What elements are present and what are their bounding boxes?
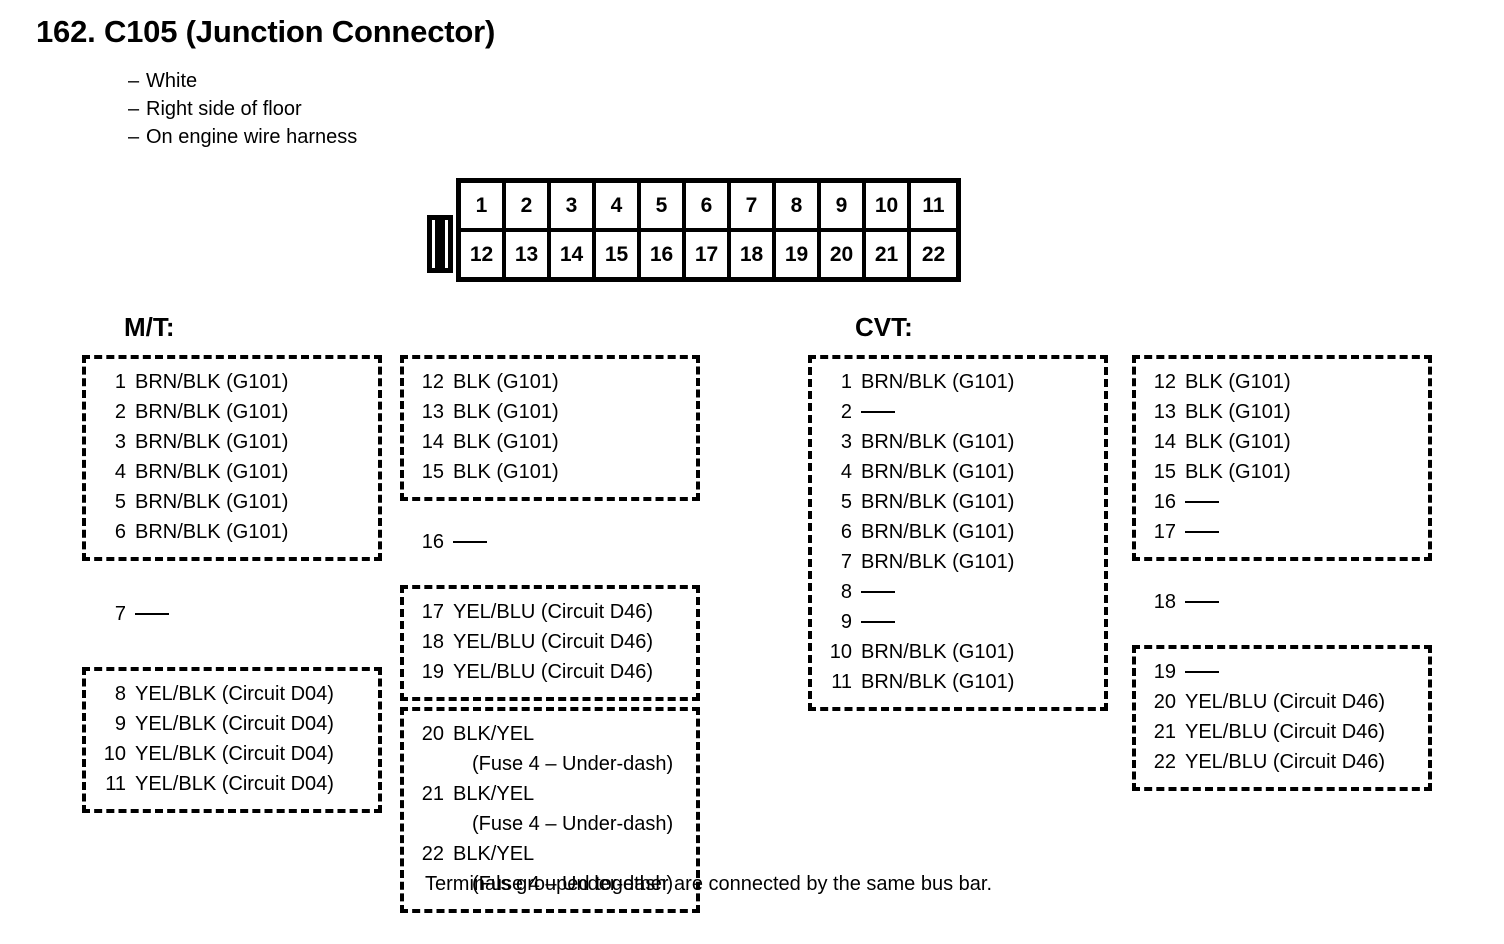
pin-row: 10BRN/BLK (G101) bbox=[822, 637, 1094, 667]
pin-description: BRN/BLK (G101) bbox=[861, 547, 1014, 577]
pin-row: 11YEL/BLK (Circuit D04) bbox=[96, 769, 368, 799]
pin-number: 7 bbox=[96, 599, 126, 629]
connector-terminal-8: 8 bbox=[776, 183, 821, 228]
pin-number: 5 bbox=[822, 487, 852, 517]
pin-row: 5BRN/BLK (G101) bbox=[96, 487, 368, 517]
pin-number: 12 bbox=[414, 367, 444, 397]
pin-number: 14 bbox=[1146, 427, 1176, 457]
pin-description: YEL/BLU (Circuit D46) bbox=[1185, 717, 1385, 747]
pin-number: 14 bbox=[414, 427, 444, 457]
pin-row: 2BRN/BLK (G101) bbox=[96, 397, 368, 427]
pin-row: 18YEL/BLU (Circuit D46) bbox=[414, 627, 686, 657]
pin-row: 17 bbox=[1146, 517, 1418, 547]
pin-empty-dash-icon bbox=[1185, 587, 1219, 617]
pin-row: 22BLK/YEL bbox=[414, 839, 686, 869]
connector-terminal-4: 4 bbox=[596, 183, 641, 228]
pin-description: BRN/BLK (G101) bbox=[861, 517, 1014, 547]
pin-row: 21YEL/BLU (Circuit D46) bbox=[1146, 717, 1418, 747]
section-heading-mt: M/T: bbox=[124, 312, 175, 343]
pin-number: 20 bbox=[414, 719, 444, 749]
pin-row: 14BLK (G101) bbox=[1146, 427, 1418, 457]
connector-row-top: 1234567891011 bbox=[461, 183, 956, 232]
pin-row: 2 bbox=[822, 397, 1094, 427]
em-dash-icon bbox=[1185, 601, 1219, 603]
pin-number: 3 bbox=[96, 427, 126, 457]
pin-sub-description: (Fuse 4 – Under-dash) bbox=[414, 809, 686, 839]
pin-number: 5 bbox=[96, 487, 126, 517]
pin-number: 9 bbox=[96, 709, 126, 739]
pin-number: 16 bbox=[1146, 487, 1176, 517]
pin-row: 7BRN/BLK (G101) bbox=[822, 547, 1094, 577]
pin-description: BRN/BLK (G101) bbox=[135, 367, 288, 397]
pin-description: BRN/BLK (G101) bbox=[135, 427, 288, 457]
connector-attribute-color: – White bbox=[128, 67, 357, 95]
pin-row: 10YEL/BLK (Circuit D04) bbox=[96, 739, 368, 769]
pin-row: 19YEL/BLU (Circuit D46) bbox=[414, 657, 686, 687]
pin-description: BLK (G101) bbox=[1185, 457, 1291, 487]
pin-row: 16 bbox=[1146, 487, 1418, 517]
pin-empty-dash-icon bbox=[135, 599, 169, 629]
connector-terminal-15: 15 bbox=[596, 232, 641, 277]
pin-number: 2 bbox=[96, 397, 126, 427]
pin-row: 8YEL/BLK (Circuit D04) bbox=[96, 679, 368, 709]
pin-column-mt-left: 1BRN/BLK (G101)2BRN/BLK (G101)3BRN/BLK (… bbox=[82, 355, 382, 813]
pin-column-cvt-left: 1BRN/BLK (G101)23BRN/BLK (G101)4BRN/BLK … bbox=[808, 355, 1108, 711]
em-dash-icon bbox=[1185, 531, 1219, 533]
em-dash-icon bbox=[861, 621, 895, 623]
pin-row: 7 bbox=[96, 599, 372, 629]
pin-row: 9 bbox=[822, 607, 1094, 637]
pin-description: BLK (G101) bbox=[453, 457, 559, 487]
pin-number: 6 bbox=[822, 517, 852, 547]
pin-description: BLK (G101) bbox=[453, 427, 559, 457]
pin-description: YEL/BLK (Circuit D04) bbox=[135, 769, 334, 799]
pin-row: 11BRN/BLK (G101) bbox=[822, 667, 1094, 697]
bus-bar-group: 8YEL/BLK (Circuit D04)9YEL/BLK (Circuit … bbox=[82, 667, 382, 813]
pin-standalone: 7 bbox=[82, 591, 382, 639]
pin-empty-dash-icon bbox=[861, 397, 895, 427]
pin-row: 18 bbox=[1146, 587, 1422, 617]
pin-description: BLK/YEL bbox=[453, 839, 534, 869]
pin-row: 19 bbox=[1146, 657, 1418, 687]
pin-empty-dash-icon bbox=[1185, 517, 1219, 547]
pin-description: YEL/BLU (Circuit D46) bbox=[453, 657, 653, 687]
connector-terminal-1: 1 bbox=[461, 183, 506, 228]
pin-description: BRN/BLK (G101) bbox=[135, 517, 288, 547]
pin-row: 3BRN/BLK (G101) bbox=[96, 427, 368, 457]
connector-terminal-18: 18 bbox=[731, 232, 776, 277]
pin-description: BLK (G101) bbox=[453, 367, 559, 397]
pin-description: YEL/BLK (Circuit D04) bbox=[135, 679, 334, 709]
pin-number: 21 bbox=[414, 779, 444, 809]
pin-column-mt-right: 12BLK (G101)13BLK (G101)14BLK (G101)15BL… bbox=[400, 355, 700, 913]
connector-terminal-10: 10 bbox=[866, 183, 911, 228]
pin-row: 15BLK (G101) bbox=[1146, 457, 1418, 487]
bus-bar-group: 12BLK (G101)13BLK (G101)14BLK (G101)15BL… bbox=[1132, 355, 1432, 561]
pin-sub-description: (Fuse 4 – Under-dash) bbox=[414, 749, 686, 779]
connector-terminal-17: 17 bbox=[686, 232, 731, 277]
pin-row: 21BLK/YEL bbox=[414, 779, 686, 809]
pin-row: 6BRN/BLK (G101) bbox=[822, 517, 1094, 547]
pin-description: YEL/BLK (Circuit D04) bbox=[135, 739, 334, 769]
pin-row: 13BLK (G101) bbox=[414, 397, 686, 427]
pin-row: 5BRN/BLK (G101) bbox=[822, 487, 1094, 517]
pin-number: 18 bbox=[1146, 587, 1176, 617]
pin-number: 17 bbox=[414, 597, 444, 627]
connector-latch-right bbox=[427, 215, 440, 273]
pin-row: 6BRN/BLK (G101) bbox=[96, 517, 368, 547]
pin-description: BRN/BLK (G101) bbox=[135, 397, 288, 427]
pin-number: 19 bbox=[1146, 657, 1176, 687]
section-heading-cvt: CVT: bbox=[855, 312, 913, 343]
pin-description: BRN/BLK (G101) bbox=[861, 457, 1014, 487]
pin-row: 15BLK (G101) bbox=[414, 457, 686, 487]
connector-terminal-19: 19 bbox=[776, 232, 821, 277]
bus-bar-group: 17YEL/BLU (Circuit D46)18YEL/BLU (Circui… bbox=[400, 585, 700, 701]
pin-number: 15 bbox=[1146, 457, 1176, 487]
bus-bar-group: 1BRN/BLK (G101)23BRN/BLK (G101)4BRN/BLK … bbox=[808, 355, 1108, 711]
bullet-dash-icon: – bbox=[128, 123, 146, 151]
pin-row: 12BLK (G101) bbox=[1146, 367, 1418, 397]
connector-row-bottom: 1213141516171819202122 bbox=[461, 232, 956, 277]
connector-terminal-22: 22 bbox=[911, 232, 956, 277]
pin-number: 1 bbox=[822, 367, 852, 397]
connector-terminal-9: 9 bbox=[821, 183, 866, 228]
pin-row: 4BRN/BLK (G101) bbox=[822, 457, 1094, 487]
pin-row: 22YEL/BLU (Circuit D46) bbox=[1146, 747, 1418, 777]
em-dash-icon bbox=[861, 411, 895, 413]
pin-empty-dash-icon bbox=[861, 607, 895, 637]
bus-bar-group: 12BLK (G101)13BLK (G101)14BLK (G101)15BL… bbox=[400, 355, 700, 501]
pin-description: BRN/BLK (G101) bbox=[861, 367, 1014, 397]
connector-terminal-6: 6 bbox=[686, 183, 731, 228]
connector-terminal-20: 20 bbox=[821, 232, 866, 277]
pin-number: 8 bbox=[96, 679, 126, 709]
pin-row: 20BLK/YEL bbox=[414, 719, 686, 749]
pin-row: 3BRN/BLK (G101) bbox=[822, 427, 1094, 457]
connector-terminal-16: 16 bbox=[641, 232, 686, 277]
pin-number: 13 bbox=[414, 397, 444, 427]
connector-terminal-12: 12 bbox=[461, 232, 506, 277]
connector-terminal-2: 2 bbox=[506, 183, 551, 228]
em-dash-icon bbox=[861, 591, 895, 593]
pin-number: 21 bbox=[1146, 717, 1176, 747]
connector-terminal-7: 7 bbox=[731, 183, 776, 228]
pin-description: BRN/BLK (G101) bbox=[135, 487, 288, 517]
pin-description: BLK (G101) bbox=[1185, 427, 1291, 457]
attribute-text: Right side of floor bbox=[146, 95, 302, 123]
pin-description: BLK/YEL bbox=[453, 779, 534, 809]
pin-number: 17 bbox=[1146, 517, 1176, 547]
pin-number: 10 bbox=[822, 637, 852, 667]
pin-description: YEL/BLU (Circuit D46) bbox=[453, 597, 653, 627]
connector-terminal-21: 21 bbox=[866, 232, 911, 277]
pin-standalone: 18 bbox=[1132, 579, 1432, 627]
pin-empty-dash-icon bbox=[453, 527, 487, 557]
pin-number: 11 bbox=[96, 769, 126, 799]
pin-description: YEL/BLK (Circuit D04) bbox=[135, 709, 334, 739]
connector-attribute-location: – Right side of floor bbox=[128, 95, 357, 123]
pin-number: 4 bbox=[96, 457, 126, 487]
pin-empty-dash-icon bbox=[861, 577, 895, 607]
pin-row: 12BLK (G101) bbox=[414, 367, 686, 397]
pin-empty-dash-icon bbox=[1185, 657, 1219, 687]
pin-description: BRN/BLK (G101) bbox=[861, 487, 1014, 517]
pin-number: 2 bbox=[822, 397, 852, 427]
pin-description: BLK (G101) bbox=[453, 397, 559, 427]
pin-description: BRN/BLK (G101) bbox=[135, 457, 288, 487]
attribute-text: White bbox=[146, 67, 197, 95]
connector-attributes: – White – Right side of floor – On engin… bbox=[128, 67, 357, 151]
pin-description: BLK (G101) bbox=[1185, 397, 1291, 427]
pin-description: YEL/BLU (Circuit D46) bbox=[1185, 687, 1385, 717]
pin-number: 22 bbox=[414, 839, 444, 869]
pin-number: 16 bbox=[414, 527, 444, 557]
connector-attribute-harness: – On engine wire harness bbox=[128, 123, 357, 151]
pin-number: 19 bbox=[414, 657, 444, 687]
pin-description: BLK/YEL bbox=[453, 719, 534, 749]
pin-description: BRN/BLK (G101) bbox=[861, 667, 1014, 697]
pin-description: BRN/BLK (G101) bbox=[861, 637, 1014, 667]
pin-number: 3 bbox=[822, 427, 852, 457]
pin-empty-dash-icon bbox=[1185, 487, 1219, 517]
pin-column-cvt-right: 12BLK (G101)13BLK (G101)14BLK (G101)15BL… bbox=[1132, 355, 1432, 791]
pin-row: 17YEL/BLU (Circuit D46) bbox=[414, 597, 686, 627]
attribute-text: On engine wire harness bbox=[146, 123, 357, 151]
pin-number: 15 bbox=[414, 457, 444, 487]
connector-terminal-5: 5 bbox=[641, 183, 686, 228]
pin-row: 9YEL/BLK (Circuit D04) bbox=[96, 709, 368, 739]
pin-number: 4 bbox=[822, 457, 852, 487]
bus-bar-group: 1920YEL/BLU (Circuit D46)21YEL/BLU (Circ… bbox=[1132, 645, 1432, 791]
pin-number: 12 bbox=[1146, 367, 1176, 397]
em-dash-icon bbox=[1185, 671, 1219, 673]
pin-description: YEL/BLU (Circuit D46) bbox=[1185, 747, 1385, 777]
pin-row: 20YEL/BLU (Circuit D46) bbox=[1146, 687, 1418, 717]
connector-latch-left bbox=[440, 215, 453, 273]
connector-terminal-11: 11 bbox=[911, 183, 956, 228]
pin-number: 1 bbox=[96, 367, 126, 397]
pin-row: 1BRN/BLK (G101) bbox=[96, 367, 368, 397]
pin-number: 11 bbox=[822, 667, 852, 697]
pin-description: YEL/BLU (Circuit D46) bbox=[453, 627, 653, 657]
pin-row: 1BRN/BLK (G101) bbox=[822, 367, 1094, 397]
pin-row: 16 bbox=[414, 527, 690, 557]
em-dash-icon bbox=[453, 541, 487, 543]
pin-row: 8 bbox=[822, 577, 1094, 607]
connector-body: 1234567891011 1213141516171819202122 bbox=[456, 178, 961, 282]
bullet-dash-icon: – bbox=[128, 67, 146, 95]
bus-bar-group: 1BRN/BLK (G101)2BRN/BLK (G101)3BRN/BLK (… bbox=[82, 355, 382, 561]
pin-number: 18 bbox=[414, 627, 444, 657]
pin-number: 22 bbox=[1146, 747, 1176, 777]
page-title: 162. C105 (Junction Connector) bbox=[36, 14, 495, 50]
em-dash-icon bbox=[1185, 501, 1219, 503]
pin-number: 7 bbox=[822, 547, 852, 577]
connector-terminal-14: 14 bbox=[551, 232, 596, 277]
pin-number: 9 bbox=[822, 607, 852, 637]
pin-row: 13BLK (G101) bbox=[1146, 397, 1418, 427]
pin-row: 4BRN/BLK (G101) bbox=[96, 457, 368, 487]
pin-number: 6 bbox=[96, 517, 126, 547]
pin-standalone: 16 bbox=[400, 519, 700, 567]
bullet-dash-icon: – bbox=[128, 95, 146, 123]
pin-description: BLK (G101) bbox=[1185, 367, 1291, 397]
pin-number: 10 bbox=[96, 739, 126, 769]
pin-number: 8 bbox=[822, 577, 852, 607]
pin-number: 13 bbox=[1146, 397, 1176, 427]
pin-number: 20 bbox=[1146, 687, 1176, 717]
pin-description: BRN/BLK (G101) bbox=[861, 427, 1014, 457]
pin-row: 14BLK (G101) bbox=[414, 427, 686, 457]
em-dash-icon bbox=[135, 613, 169, 615]
footer-note: Terminals grouped together are connected… bbox=[425, 873, 992, 896]
connector-terminal-3: 3 bbox=[551, 183, 596, 228]
connector-terminal-13: 13 bbox=[506, 232, 551, 277]
